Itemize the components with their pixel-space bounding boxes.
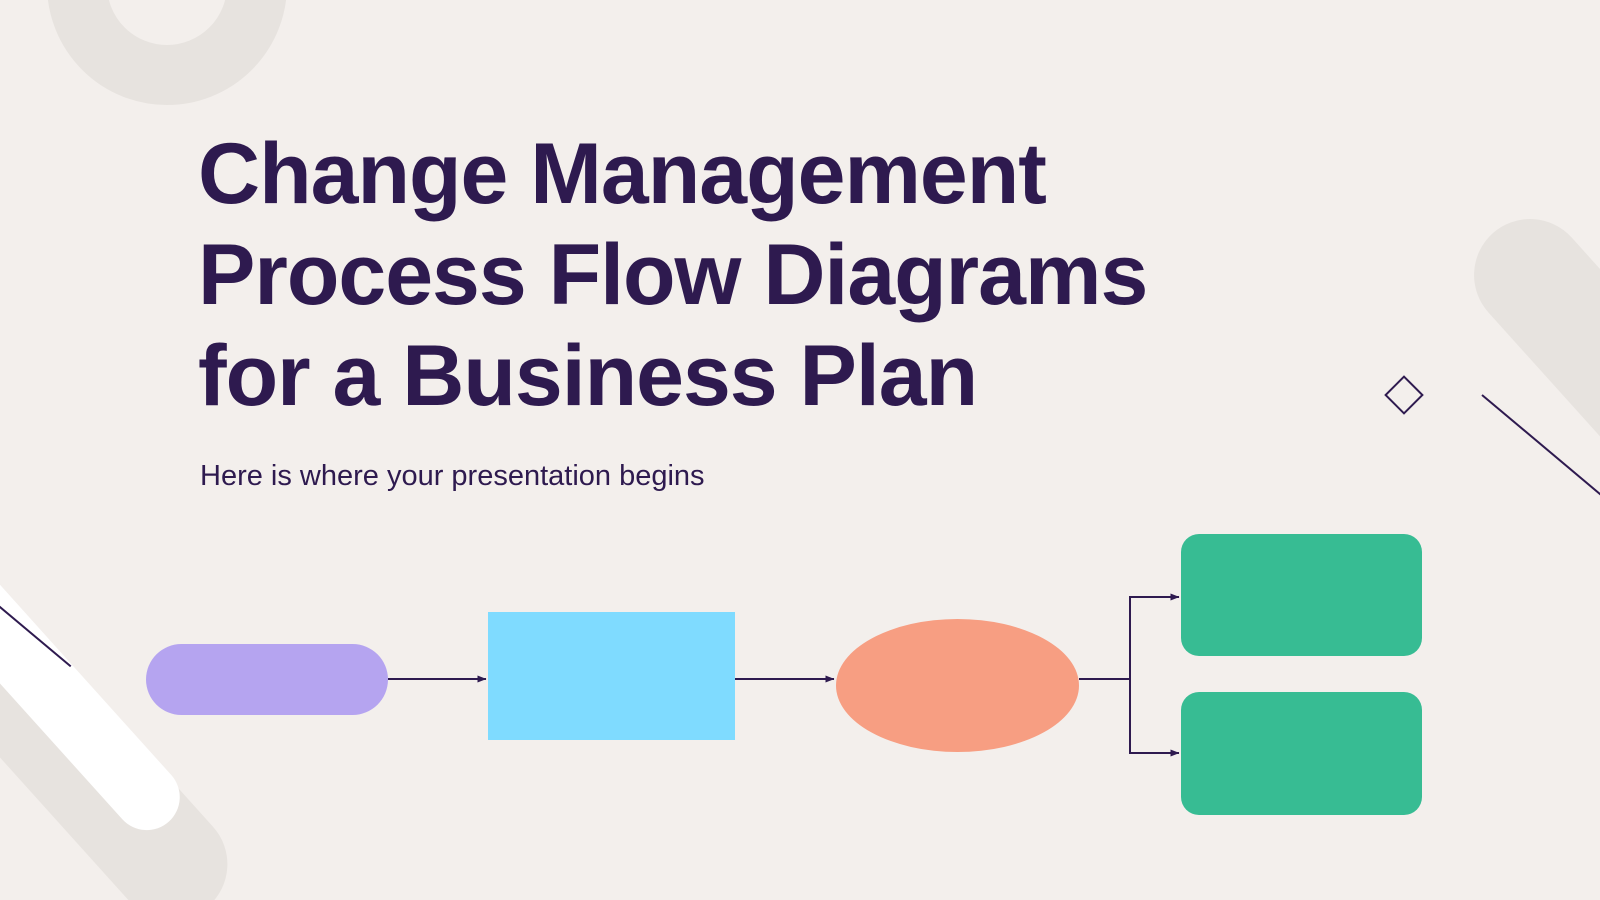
- flow-diagram: [0, 500, 1600, 900]
- connector-decision-to-outcome-a: [1079, 597, 1179, 679]
- flow-node-start[interactable]: [146, 644, 388, 715]
- slide-title: Change Management Process Flow Diagrams …: [198, 124, 1208, 427]
- flow-node-outcome-a[interactable]: [1181, 534, 1422, 656]
- decorative-diamond-outline-right: [1384, 375, 1424, 415]
- presentation-slide: Change Management Process Flow Diagrams …: [0, 0, 1600, 900]
- flow-node-outcome-b[interactable]: [1181, 692, 1422, 815]
- flow-node-decision[interactable]: [836, 619, 1079, 752]
- decorative-ring-top-left: [47, 0, 287, 105]
- connector-decision-to-outcome-b: [1130, 679, 1179, 753]
- decorative-diagonal-line-right: [1481, 394, 1600, 502]
- flow-node-process[interactable]: [488, 612, 735, 740]
- decorative-gray-bar-right: [1451, 196, 1600, 516]
- slide-subtitle: Here is where your presentation begins: [200, 460, 705, 493]
